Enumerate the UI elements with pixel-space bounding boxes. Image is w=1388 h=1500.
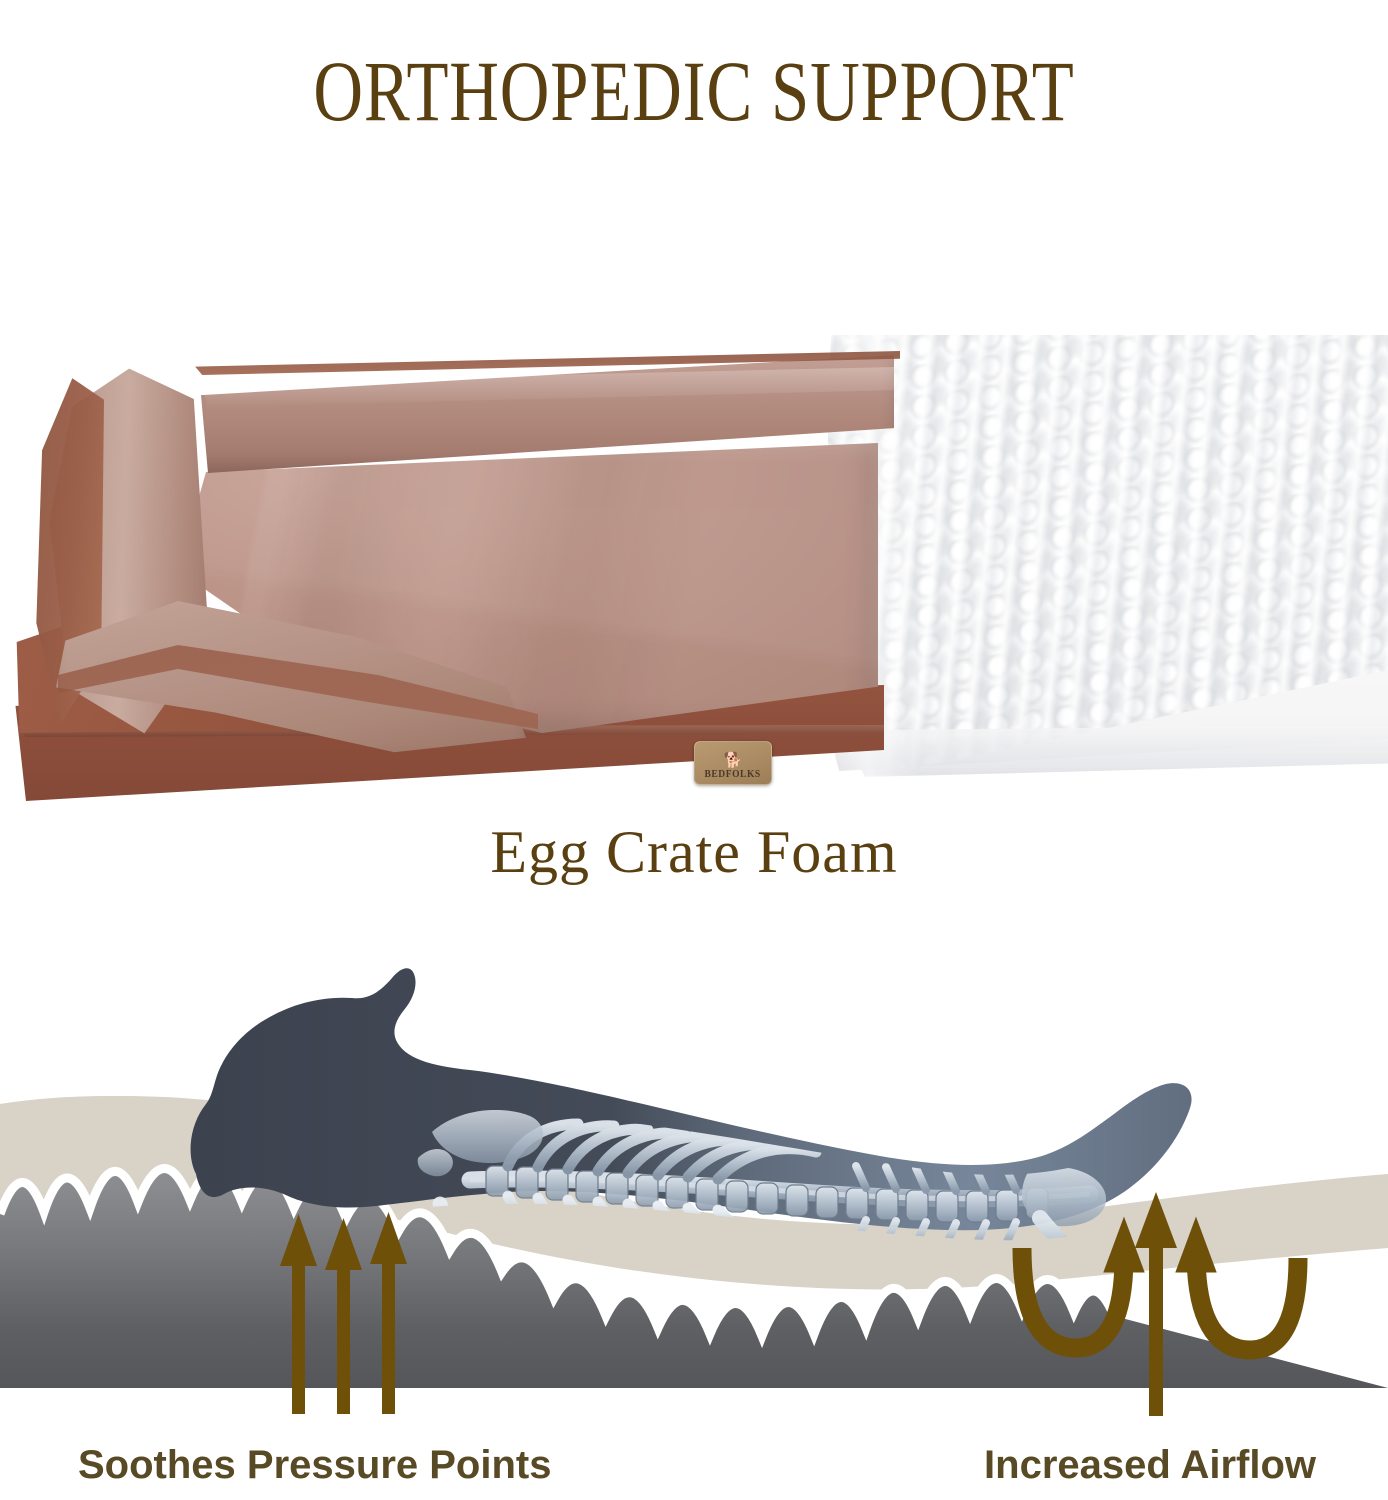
brand-tag-label: BEDFOLKS	[705, 769, 761, 780]
infographic-page: ORTHOPEDIC SUPPORT 🐕	[0, 0, 1388, 1500]
cross-section-diagram	[0, 918, 1388, 1428]
product-photo: 🐕 BEDFOLKS	[0, 325, 1388, 805]
pressure-arrows	[280, 1212, 407, 1414]
dog-icon: 🐕	[724, 753, 743, 768]
caption-egg-crate-foam: Egg Crate Foam	[0, 818, 1388, 887]
dog-bed	[8, 333, 888, 801]
label-increased-airflow: Increased Airflow	[984, 1443, 1316, 1488]
egg-crate-foam-slab	[828, 335, 1388, 795]
brand-tag: 🐕 BEDFOLKS	[694, 741, 772, 785]
feature-labels: Soothes Pressure Points Increased Airflo…	[0, 1443, 1388, 1493]
label-soothes-pressure-points: Soothes Pressure Points	[78, 1443, 551, 1488]
page-title: ORTHOPEDIC SUPPORT	[139, 46, 1249, 136]
